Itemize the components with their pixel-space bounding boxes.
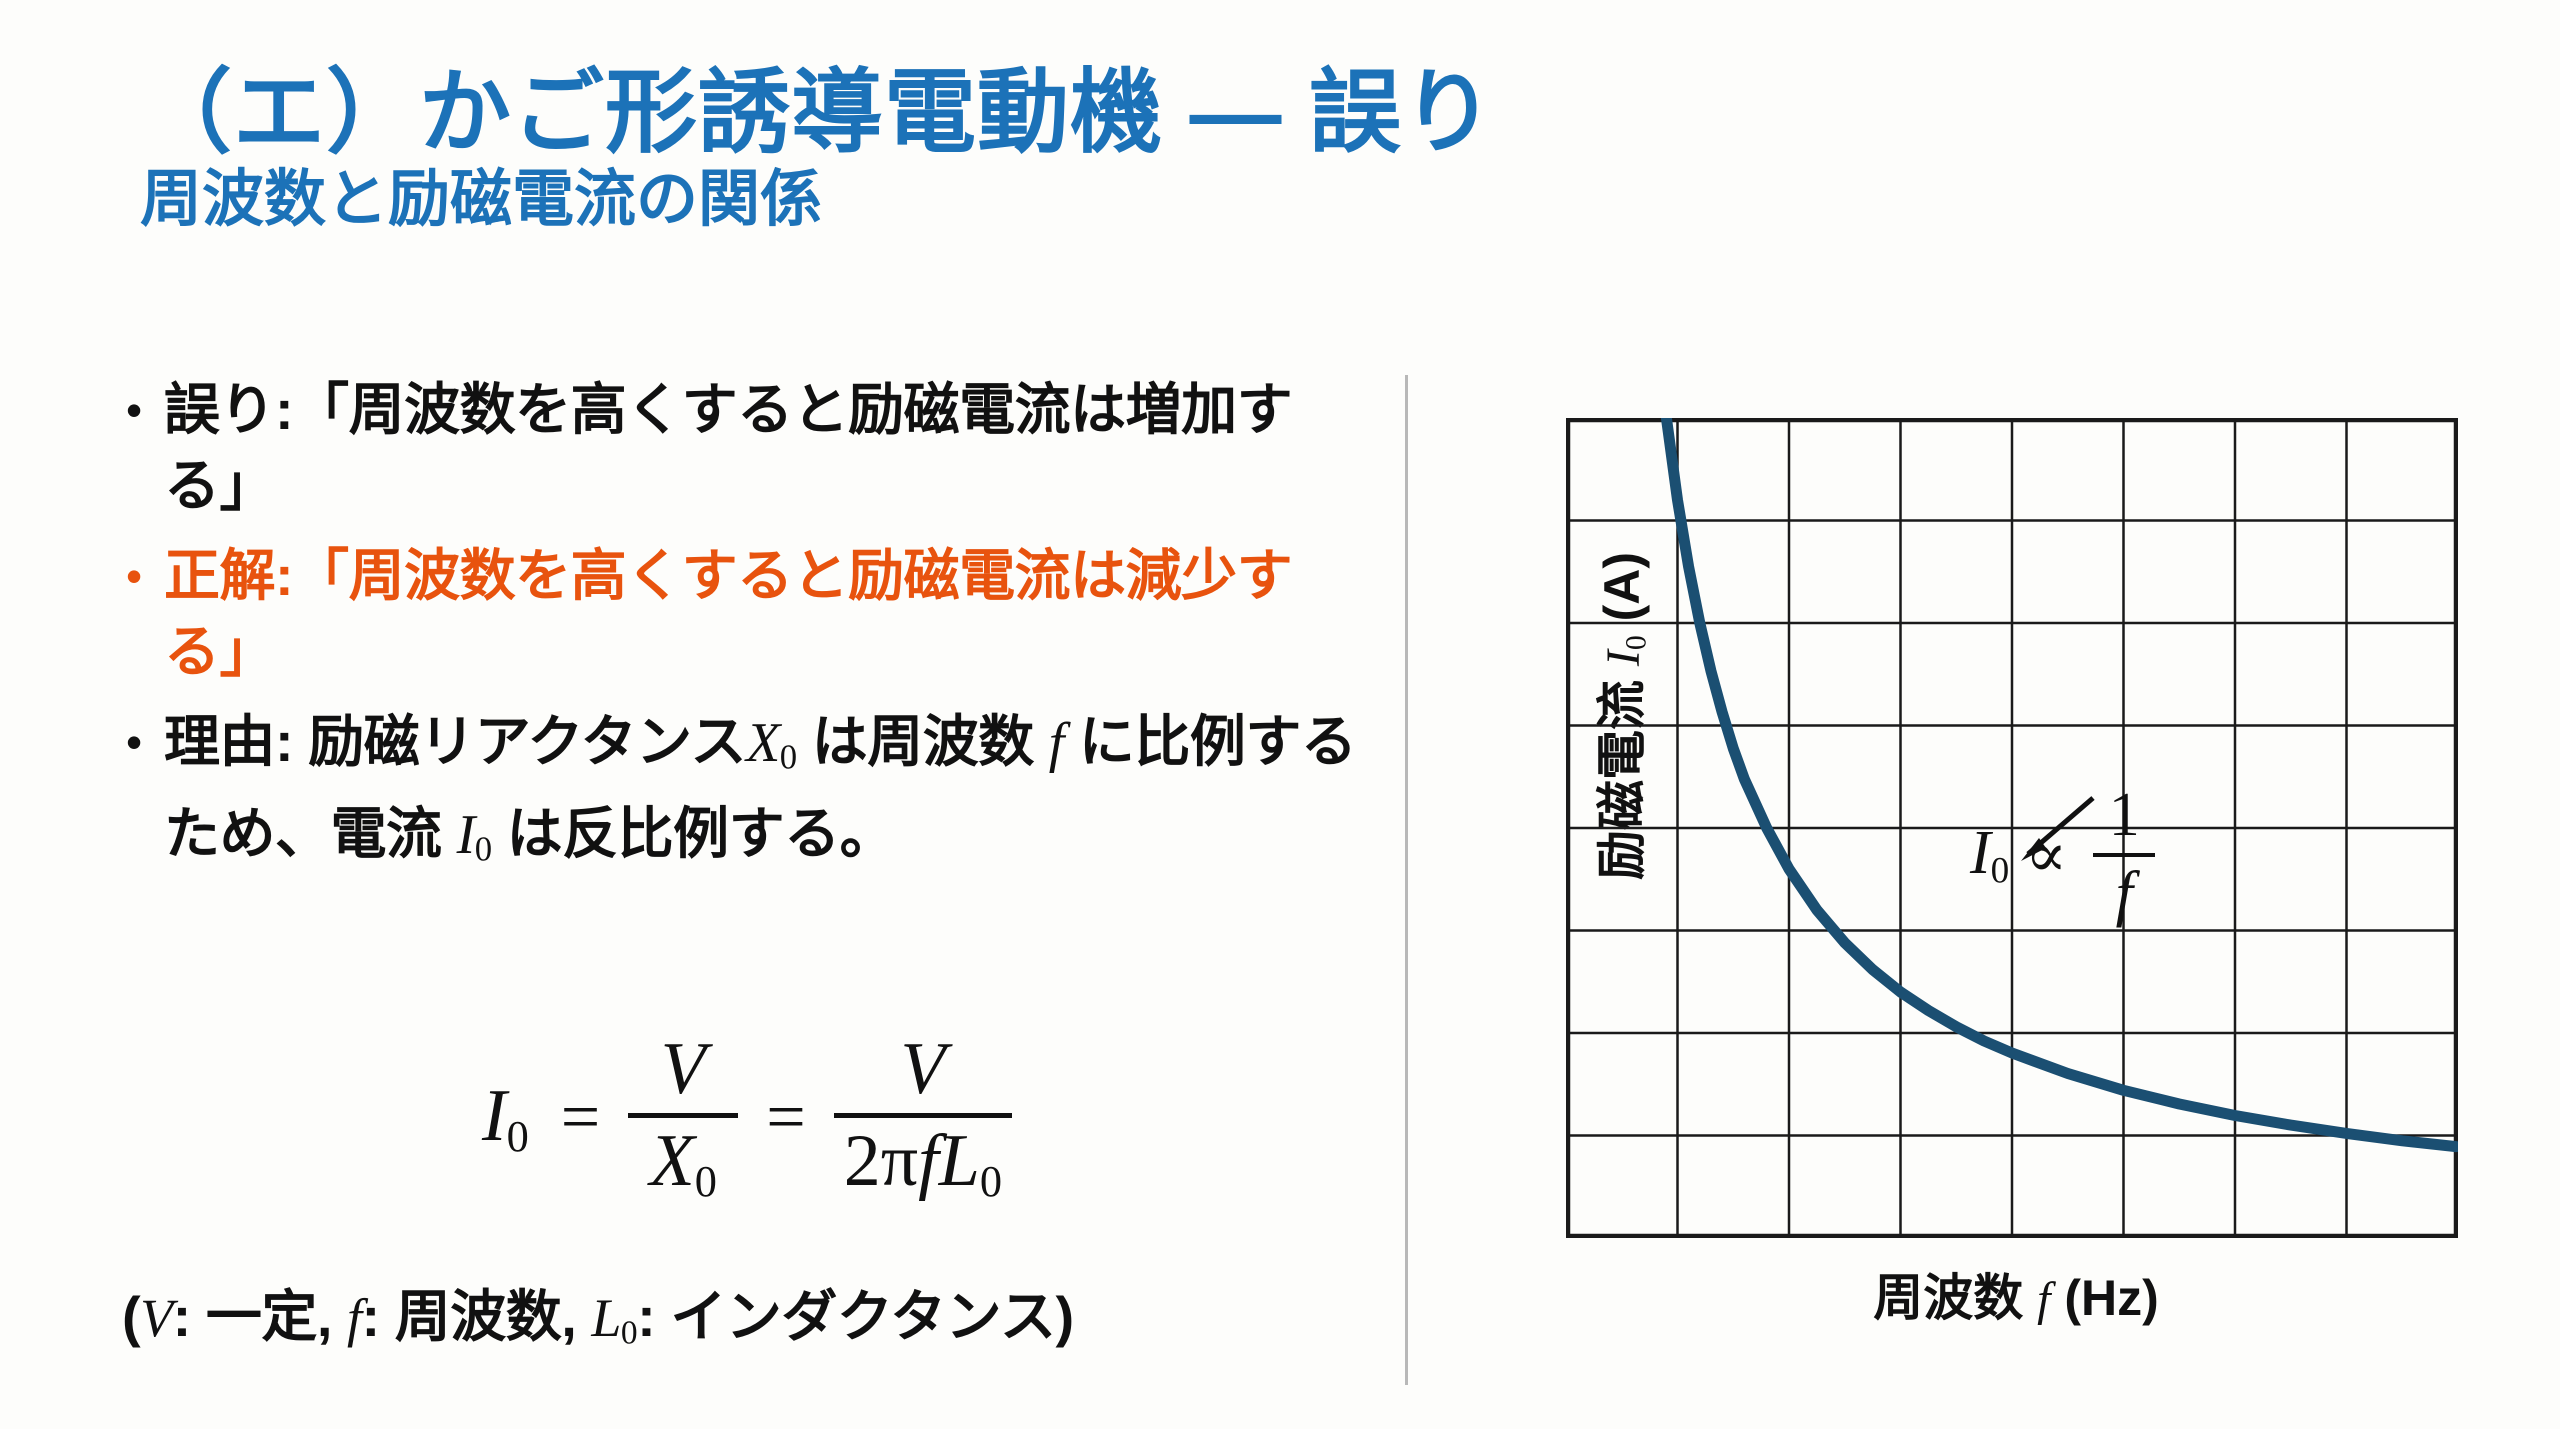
note-v-description: : 一定, bbox=[173, 1285, 347, 1348]
fraction-numerator: V bbox=[890, 1030, 955, 1109]
fraction-numerator: V bbox=[651, 1030, 716, 1109]
annotation-fraction-numerator: 1 bbox=[2099, 782, 2150, 849]
bullet-text-correct: 正解:「周波数を高くすると励磁電流は減少する」 bbox=[164, 538, 1370, 690]
note-l-base: L bbox=[591, 1288, 621, 1348]
den-l-base: L bbox=[939, 1120, 980, 1202]
reason-mid1: は周波数 bbox=[812, 710, 1034, 773]
equation-lhs-base: I bbox=[482, 1075, 507, 1157]
vertical-divider bbox=[1405, 375, 1408, 1385]
equation-lhs-subscript: 0 bbox=[507, 1111, 529, 1161]
den-pi: π bbox=[881, 1120, 918, 1202]
equals-sign-2: = bbox=[748, 1078, 823, 1158]
equation-lhs: I0 bbox=[468, 1074, 543, 1162]
math-var-i0: I0 bbox=[457, 804, 492, 866]
list-item: • 理由: 励磁リアクタンスX0 は周波数 f に比例するため、電流 I0 は反… bbox=[120, 704, 1370, 887]
equals-sign-1: = bbox=[543, 1078, 618, 1158]
annotation-fraction: 1 f bbox=[2083, 782, 2165, 928]
fraction-bar bbox=[834, 1113, 1012, 1118]
content-left-column: • 誤り:「周波数を高くすると励磁電流は増加する」 • 正解:「周波数を高くする… bbox=[120, 372, 1370, 901]
bullet-marker-icon: • bbox=[120, 372, 164, 448]
math-var-f: f bbox=[1049, 712, 1064, 774]
x-label-text: 周波数 bbox=[1873, 1270, 2023, 1326]
fraction-den-base: X bbox=[650, 1120, 695, 1202]
list-item: • 正解:「周波数を高くすると励磁電流は減少する」 bbox=[120, 538, 1370, 690]
bullet-text-incorrect: 誤り:「周波数を高くすると励磁電流は増加する」 bbox=[164, 372, 1370, 524]
fraction-bar bbox=[628, 1113, 738, 1118]
annotation-proportional-icon: ∝ bbox=[2009, 818, 2083, 892]
math-var-i-base: I bbox=[457, 804, 475, 866]
annotation-symbol-subscript: 0 bbox=[1991, 850, 2010, 891]
reason-tail: は反比例する。 bbox=[507, 802, 896, 865]
note-l-description: : インダクタンス) bbox=[637, 1285, 1074, 1348]
annotation-symbol-i0: I0 bbox=[1970, 818, 2009, 892]
annotation-fraction-denominator: f bbox=[2106, 861, 2143, 928]
den-l-subscript: 0 bbox=[980, 1157, 1002, 1207]
page-subtitle: 周波数と励磁電流の関係 bbox=[140, 148, 822, 238]
fraction-v-over-2pifl0: V 2πfL0 bbox=[824, 1030, 1022, 1207]
note-open-paren: ( bbox=[122, 1285, 140, 1348]
den-f: f bbox=[918, 1120, 939, 1202]
annotation-fraction-bar bbox=[2093, 853, 2155, 857]
chart-annotation-proportionality: I0 ∝ 1 f bbox=[1970, 782, 2165, 928]
bullet-marker-icon: • bbox=[120, 704, 164, 780]
formula-display: I0 = V X0 = V 2πfL0 bbox=[120, 1030, 1370, 1207]
annotation-symbol-base: I bbox=[1970, 819, 1991, 887]
equation-i0: I0 = V X0 = V 2πfL0 bbox=[468, 1030, 1022, 1207]
formula-legend-note: (V: 一定, f: 周波数, L0: インダクタンス) bbox=[122, 1272, 1074, 1353]
reason-lead: 理由: 励磁リアクタンス bbox=[164, 710, 746, 773]
note-f-description: : 周波数, bbox=[362, 1285, 592, 1348]
fraction-den-subscript: 0 bbox=[695, 1157, 717, 1207]
bullet-marker-icon: • bbox=[120, 538, 164, 614]
chart-x-axis-label: 周波数 f (Hz) bbox=[1566, 1258, 2466, 1330]
math-var-x0: X0 bbox=[746, 712, 797, 774]
x-label-unit: (Hz) bbox=[2064, 1270, 2158, 1326]
math-var-x-base: X bbox=[746, 712, 780, 774]
fraction-denominator: X0 bbox=[640, 1122, 727, 1206]
list-item: • 誤り:「周波数を高くすると励磁電流は増加する」 bbox=[120, 372, 1370, 524]
den-coefficient: 2 bbox=[844, 1120, 881, 1202]
x-label-variable: f bbox=[2037, 1273, 2050, 1326]
fraction-v-over-x0: V X0 bbox=[618, 1030, 748, 1207]
note-var-f: f bbox=[347, 1288, 362, 1348]
note-var-v: V bbox=[140, 1288, 173, 1348]
math-var-x-subscript: 0 bbox=[780, 738, 797, 777]
note-l-subscript: 0 bbox=[621, 1314, 637, 1351]
bullet-text-reason: 理由: 励磁リアクタンスX0 は周波数 f に比例するため、電流 I0 は反比例… bbox=[164, 704, 1370, 887]
note-var-l0: L0 bbox=[591, 1288, 637, 1348]
fraction-denominator: 2πfL0 bbox=[834, 1122, 1012, 1206]
math-var-i-subscript: 0 bbox=[475, 829, 492, 868]
